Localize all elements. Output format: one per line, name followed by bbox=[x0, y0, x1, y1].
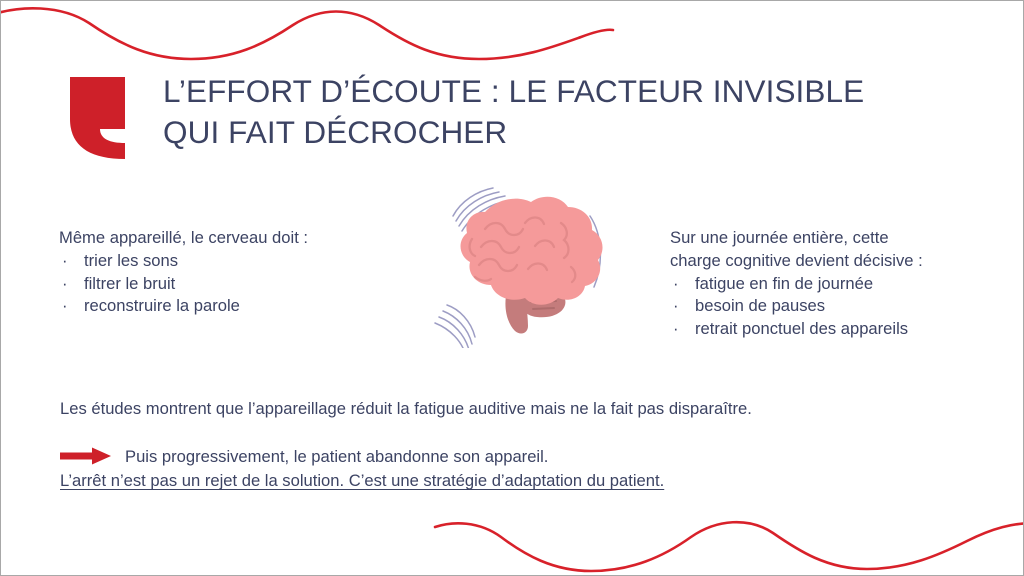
brain-with-sound-waves-illustration bbox=[425, 183, 625, 348]
brain-cortex bbox=[461, 197, 603, 305]
list-item-label: filtrer le bruit bbox=[84, 274, 175, 293]
bullet-dot-icon: · bbox=[62, 250, 68, 273]
slide-canvas: L’EFFORT D’ÉCOUTE : LE FACTEUR INVISIBLE… bbox=[0, 0, 1024, 576]
list-item: · besoin de pauses bbox=[670, 295, 990, 318]
right-block-lead-line-2: charge cognitive devient décisive : bbox=[670, 250, 990, 273]
list-item-label: besoin de pauses bbox=[695, 296, 825, 315]
list-item-label: reconstruire la parole bbox=[84, 296, 240, 315]
bullet-dot-icon: · bbox=[62, 273, 68, 296]
list-item: · fatigue en fin de journée bbox=[670, 273, 990, 296]
right-text-block: Sur une journée entière, cette charge co… bbox=[670, 227, 990, 341]
conclusion-text: Puis progressivement, le patient abandon… bbox=[125, 445, 548, 468]
bullet-dot-icon: · bbox=[673, 273, 679, 296]
sound-wave-arcs-bottom-left bbox=[435, 305, 475, 348]
list-item: · filtrer le bruit bbox=[59, 273, 399, 296]
list-item-label: trier les sons bbox=[84, 251, 178, 270]
bottom-wave-decoration bbox=[1, 499, 1024, 576]
list-item-label: retrait ponctuel des appareils bbox=[695, 319, 908, 338]
page-title: L’EFFORT D’ÉCOUTE : LE FACTEUR INVISIBLE… bbox=[163, 71, 963, 153]
list-item: · retrait ponctuel des appareils bbox=[670, 318, 990, 341]
left-block-lead: Même appareillé, le cerveau doit : bbox=[59, 227, 399, 250]
brand-logo bbox=[70, 73, 128, 161]
top-wave-decoration bbox=[1, 1, 1024, 71]
page-title-line-1: L’EFFORT D’ÉCOUTE : LE FACTEUR INVISIBLE bbox=[163, 71, 963, 112]
study-statement: Les études montrent que l’appareillage r… bbox=[60, 397, 752, 420]
list-item: · trier les sons bbox=[59, 250, 399, 273]
bullet-dot-icon: · bbox=[673, 318, 679, 341]
key-takeaway-text: L’arrêt n’est pas un rejet de la solutio… bbox=[60, 469, 664, 492]
right-arrow-icon bbox=[60, 447, 112, 465]
left-bullet-list: · trier les sons · filtrer le bruit · re… bbox=[59, 250, 399, 318]
right-bullet-list: · fatigue en fin de journée · besoin de … bbox=[670, 273, 990, 341]
left-text-block: Même appareillé, le cerveau doit : · tri… bbox=[59, 227, 399, 318]
list-item: · reconstruire la parole bbox=[59, 295, 399, 318]
bullet-dot-icon: · bbox=[62, 295, 68, 318]
list-item-label: fatigue en fin de journée bbox=[695, 274, 873, 293]
page-title-line-2: QUI FAIT DÉCROCHER bbox=[163, 112, 963, 153]
conclusion-row: Puis progressivement, le patient abandon… bbox=[60, 444, 548, 468]
bullet-dot-icon: · bbox=[673, 295, 679, 318]
right-block-lead-line-1: Sur une journée entière, cette bbox=[670, 227, 990, 250]
